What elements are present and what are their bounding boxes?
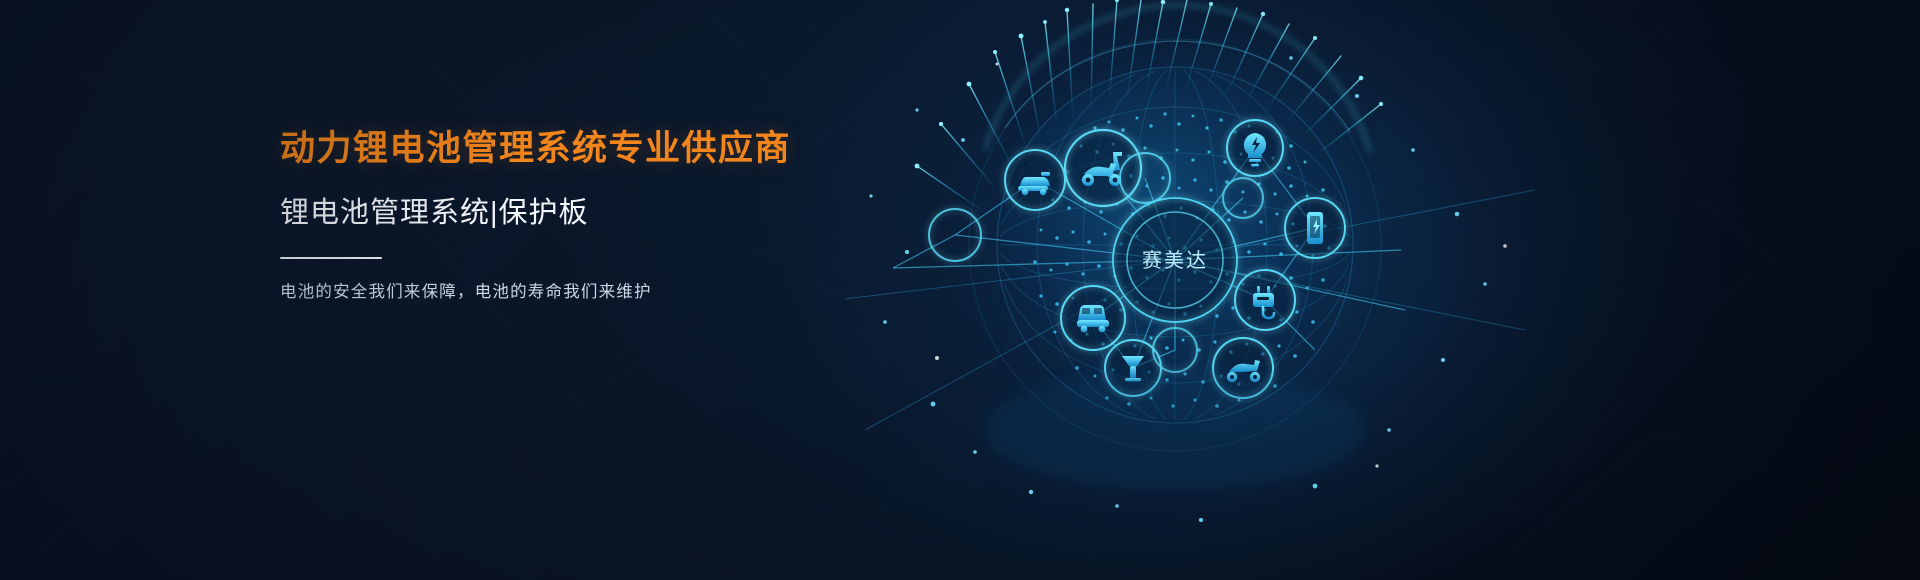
hero-banner: 动力锂电池管理系统专业供应商 锂电池管理系统|保护板 电池的安全我们来保障，电池… bbox=[0, 0, 1920, 580]
banner-subheadline: 锂电池管理系统|保护板 bbox=[280, 195, 940, 231]
node-phone-battery[interactable] bbox=[1285, 198, 1345, 258]
node-sedan-car[interactable] bbox=[1005, 150, 1065, 210]
globe-center-label: 赛美达 bbox=[1142, 249, 1208, 272]
banner-tagline: 电池的安全我们来保障，电池的寿命我们来维护 bbox=[280, 281, 940, 304]
banner-copy: 动力锂电池管理系统专业供应商 锂电池管理系统|保护板 电池的安全我们来保障，电池… bbox=[280, 128, 940, 304]
divider-rule bbox=[280, 257, 382, 259]
node-plug[interactable] bbox=[1235, 270, 1295, 330]
phone-battery-icon bbox=[1307, 212, 1323, 244]
banner-headline: 动力锂电池管理系统专业供应商 bbox=[280, 128, 940, 171]
node-lightbulb[interactable] bbox=[1227, 120, 1283, 176]
node-scooter[interactable] bbox=[1065, 130, 1141, 206]
node-hatchback[interactable] bbox=[1061, 286, 1125, 350]
globe-illustration: 赛美达 bbox=[845, 0, 1545, 580]
globe-center-node[interactable]: 赛美达 bbox=[1113, 198, 1237, 322]
